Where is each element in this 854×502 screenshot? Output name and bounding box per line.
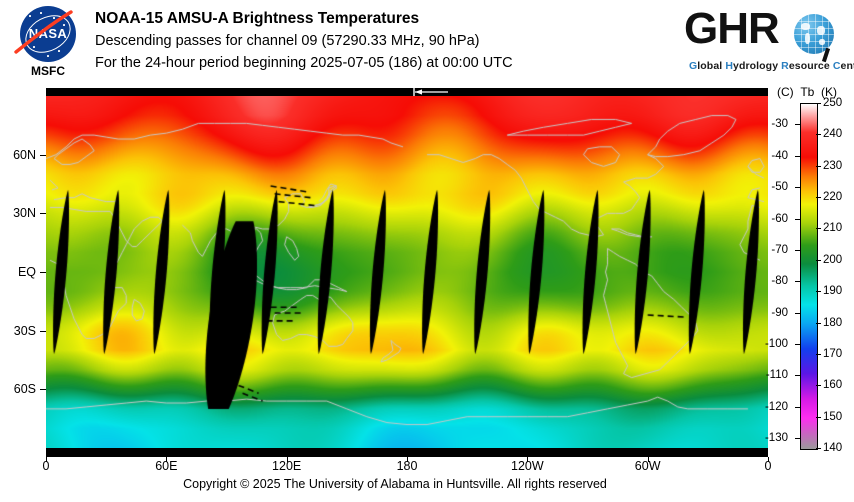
colorbar-celsius-tickmark — [795, 187, 800, 188]
ghrc-wordmark: GHR — [684, 6, 779, 52]
x-axis-tick-label: 0 — [43, 459, 50, 473]
colorbar-kelvin-tickmark — [816, 197, 821, 198]
colorbar-gradient — [801, 104, 817, 449]
colorbar-kelvin-tickmark — [816, 134, 821, 135]
x-axis-tick-label: 0 — [765, 459, 772, 473]
colorbar-label-tb: Tb — [800, 85, 814, 99]
x-axis-tick-label: 120W — [511, 459, 544, 473]
colorbar-celsius-tickmark — [795, 250, 800, 251]
colorbar-celsius-tickmark — [795, 375, 800, 376]
y-axis-tick-label: 30S — [0, 324, 36, 338]
colorbar-celsius-label: -50 — [754, 181, 788, 193]
colorbar-kelvin-label: 230 — [823, 160, 842, 172]
colorbar-kelvin-tickmark — [816, 385, 821, 386]
y-axis-tickmark — [40, 213, 46, 214]
y-axis-tickmark — [40, 272, 46, 273]
colorbar-celsius-label: -60 — [754, 213, 788, 225]
colorbar-kelvin-tickmark — [816, 260, 821, 261]
colorbar-kelvin-tickmark — [816, 417, 821, 418]
colorbar-celsius-label: -80 — [754, 275, 788, 287]
map-frame — [46, 88, 768, 457]
colorbar-kelvin-label: 200 — [823, 254, 842, 266]
colorbar-kelvin-label: 170 — [823, 348, 842, 360]
colorbar-kelvin-label: 140 — [823, 442, 842, 454]
colorbar-kelvin-label: 190 — [823, 285, 842, 297]
y-axis-tickmark — [40, 389, 46, 390]
nasa-swoosh-icon — [13, 10, 73, 58]
subtitle-channel: Descending passes for channel 09 (57290.… — [95, 30, 695, 52]
colorbar-kelvin-label: 180 — [823, 317, 842, 329]
colorbar-kelvin-tickmark — [816, 103, 821, 104]
colorbar-celsius-label: -110 — [754, 369, 788, 381]
colorbar-celsius-label: -30 — [754, 118, 788, 130]
colorbar-kelvin-label: 250 — [823, 97, 842, 109]
nasa-logo: NASA MSFC — [14, 6, 82, 84]
x-axis-tick-label: 180 — [397, 459, 418, 473]
ghrc-tagline: Global Hydrology Resource Center — [689, 60, 854, 72]
colorbar-celsius-tickmark — [795, 407, 800, 408]
colorbar-kelvin-tickmark — [816, 228, 821, 229]
colorbar-kelvin-label: 210 — [823, 222, 842, 234]
title-block: NOAA-15 AMSU-A Brightness Temperatures D… — [95, 8, 695, 74]
brightness-temperature-map[interactable] — [46, 96, 768, 448]
colorbar-celsius-tickmark — [795, 344, 800, 345]
colorbar-kelvin-label: 160 — [823, 379, 842, 391]
x-axis-tick-label: 120E — [272, 459, 301, 473]
colorbar-kelvin-tickmark — [816, 323, 821, 324]
page-title: NOAA-15 AMSU-A Brightness Temperatures — [95, 8, 695, 30]
colorbar-celsius-tickmark — [795, 156, 800, 157]
colorbar-kelvin-tickmark — [816, 354, 821, 355]
colorbar-kelvin-tickmark — [816, 166, 821, 167]
copyright-notice: Copyright © 2025 The University of Alaba… — [0, 477, 790, 491]
y-axis-tick-label: 60N — [0, 148, 36, 162]
descending-pass-arrow-icon — [404, 88, 450, 96]
colorbar-kelvin-tickmark — [816, 291, 821, 292]
colorbar-celsius-tickmark — [795, 438, 800, 439]
y-axis-tickmark — [40, 155, 46, 156]
ghrc-logo: GHR Global Hydrology Resource Center — [684, 6, 850, 80]
colorbar-kelvin-label: 150 — [823, 411, 842, 423]
y-axis-tick-label: 60S — [0, 382, 36, 396]
colorbar-unit-celsius: (C) — [777, 85, 794, 99]
y-axis-tickmark — [40, 331, 46, 332]
colorbar-kelvin-label: 220 — [823, 191, 842, 203]
colorbar-celsius-label: -130 — [754, 432, 788, 444]
colorbar-celsius-tickmark — [795, 124, 800, 125]
colorbar-celsius-label: -90 — [754, 307, 788, 319]
colorbar — [800, 103, 818, 450]
colorbar-celsius-tickmark — [795, 313, 800, 314]
msfc-label: MSFC — [14, 64, 82, 78]
x-axis-tick-label: 60W — [635, 459, 661, 473]
colorbar-celsius-tickmark — [795, 219, 800, 220]
x-axis-tick-label: 60E — [155, 459, 177, 473]
colorbar-celsius-label: -100 — [754, 338, 788, 350]
subtitle-period: For the 24-hour period beginning 2025-07… — [95, 52, 695, 74]
y-axis-tick-label: 30N — [0, 206, 36, 220]
colorbar-celsius-tickmark — [795, 281, 800, 282]
colorbar-celsius-label: -70 — [754, 244, 788, 256]
colorbar-kelvin-tickmark — [816, 448, 821, 449]
colorbar-celsius-label: -120 — [754, 401, 788, 413]
colorbar-kelvin-label: 240 — [823, 128, 842, 140]
y-axis-tick-label: EQ — [0, 265, 36, 279]
colorbar-celsius-label: -40 — [754, 150, 788, 162]
